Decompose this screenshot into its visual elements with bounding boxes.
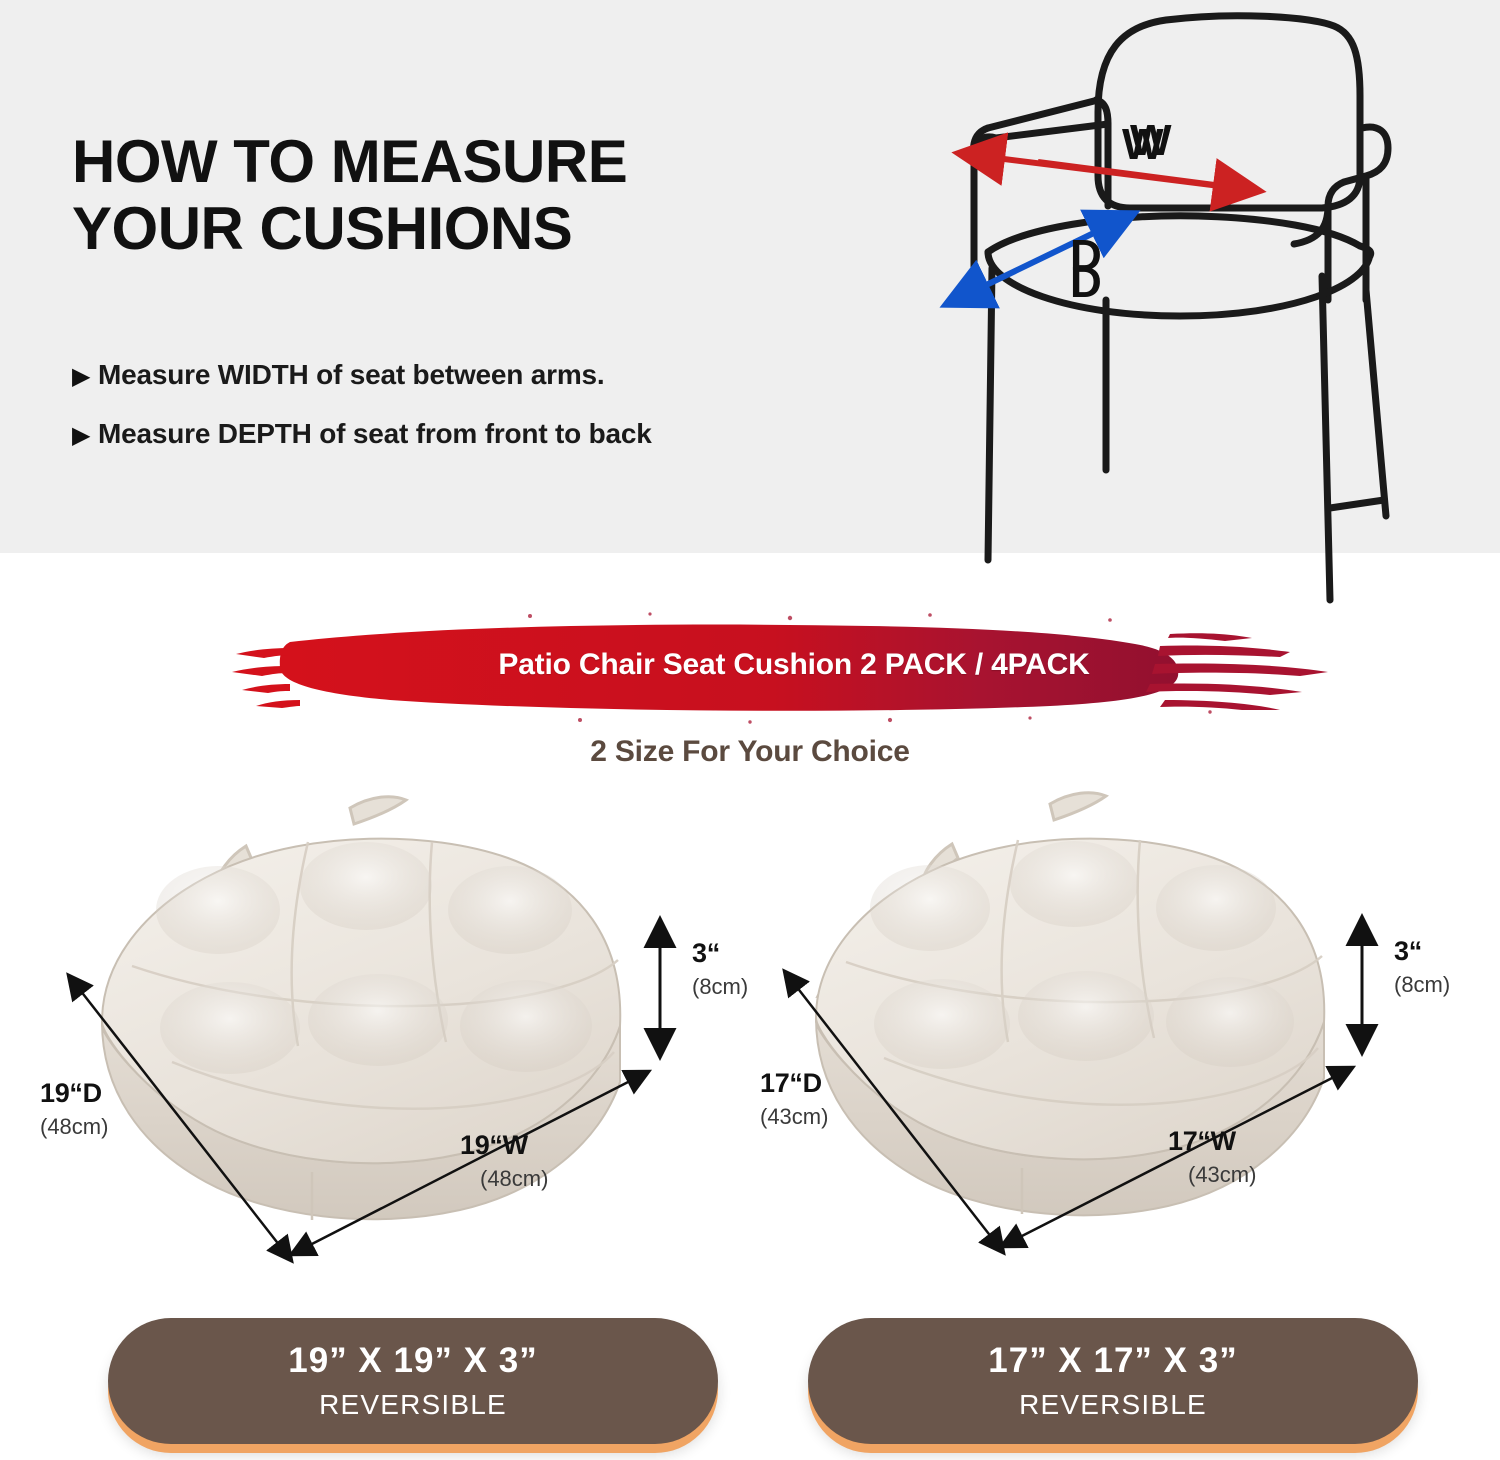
width-cm-17: (43cm) bbox=[1188, 1162, 1256, 1188]
size-option-19[interactable]: 19” X 19” X 3” REVERSIBLE bbox=[108, 1318, 718, 1444]
height-dimension-label-17: 3“ (8cm) bbox=[1394, 936, 1450, 998]
depth-cm-19: (48cm) bbox=[40, 1114, 108, 1140]
cushion-figure-19: 19“D (48cm) 19“W (48cm) 3“ (8cm) bbox=[40, 790, 770, 1270]
size-option-17[interactable]: 17” X 17” X 3” REVERSIBLE bbox=[808, 1318, 1418, 1444]
cushion-figure-17: 17“D (43cm) 17“W (43cm) 3“ (8cm) bbox=[760, 790, 1490, 1270]
size-option-17-dimensions: 17” X 17” X 3” bbox=[988, 1343, 1237, 1378]
depth-inches-19: 19“D bbox=[40, 1078, 108, 1109]
infographic-page: HOW TO MEASURE YOUR CUSHIONS ▶ Measure W… bbox=[0, 0, 1500, 1460]
depth-cm-17: (43cm) bbox=[760, 1104, 828, 1130]
instruction-list: ▶ Measure WIDTH of seat between arms. ▶ … bbox=[72, 360, 912, 478]
width-dimension-label-19: 19“W (48cm) bbox=[460, 1130, 548, 1192]
page-title-line-1: HOW TO MEASURE bbox=[72, 128, 627, 195]
depth-label-overlay: D bbox=[1070, 258, 1102, 308]
size-option-19-reversible: REVERSIBLE bbox=[319, 1391, 507, 1419]
instruction-depth-text: Measure DEPTH of seat from front to back bbox=[98, 419, 652, 450]
list-item: ▶ Measure DEPTH of seat from front to ba… bbox=[72, 419, 912, 450]
size-option-17-reversible: REVERSIBLE bbox=[1019, 1391, 1207, 1419]
height-cm-19: (8cm) bbox=[692, 974, 748, 1000]
section-subtitle: 2 Size For Your Choice bbox=[0, 735, 1500, 769]
chair-leg-front-left bbox=[988, 268, 992, 560]
height-inches-17: 3“ bbox=[1394, 936, 1450, 967]
chair-outline bbox=[974, 16, 1388, 600]
size-option-19-dimensions: 19” X 19” X 3” bbox=[288, 1343, 537, 1378]
chair-illustration-svg: W D bbox=[930, 0, 1430, 620]
chair-leg-rear-right bbox=[1366, 290, 1386, 516]
depth-inches-17: 17“D bbox=[760, 1068, 828, 1099]
width-inches-19: 19“W bbox=[460, 1130, 548, 1161]
promo-banner: Patio Chair Seat Cushion 2 PACK / 4PACK bbox=[230, 600, 1340, 730]
chair-leg-front-right bbox=[1322, 276, 1330, 600]
width-cm-19: (48cm) bbox=[480, 1166, 548, 1192]
page-title-line-2: YOUR CUSHIONS bbox=[72, 195, 832, 262]
chair-diagram: W D bbox=[930, 0, 1430, 620]
page-title: HOW TO MEASURE YOUR CUSHIONS bbox=[72, 128, 832, 262]
chair-seat-front-edge bbox=[988, 252, 1370, 316]
height-inches-19: 3“ bbox=[692, 938, 748, 969]
height-dimension-label-19: 3“ (8cm) bbox=[692, 938, 748, 1000]
width-dimension-label-17: 17“W (43cm) bbox=[1168, 1126, 1256, 1188]
triangle-bullet-icon: ▶ bbox=[72, 424, 98, 448]
triangle-bullet-icon: ▶ bbox=[72, 365, 98, 389]
width-label-overlay: W bbox=[1122, 120, 1164, 170]
cushion-illustration-19 bbox=[40, 790, 770, 1270]
chair-leg-stretcher bbox=[1330, 500, 1384, 508]
chair-seat-back-edge bbox=[988, 216, 1360, 252]
height-cm-17: (8cm) bbox=[1394, 972, 1450, 998]
depth-dimension-label-19: 19“D (48cm) bbox=[40, 1078, 108, 1140]
list-item: ▶ Measure WIDTH of seat between arms. bbox=[72, 360, 912, 391]
cushion-illustration-17 bbox=[760, 790, 1490, 1270]
chair-backrest bbox=[1098, 16, 1360, 208]
depth-dimension-label-17: 17“D (43cm) bbox=[760, 1068, 828, 1130]
width-inches-17: 17“W bbox=[1168, 1126, 1256, 1157]
instruction-width-text: Measure WIDTH of seat between arms. bbox=[98, 360, 604, 391]
promo-banner-text: Patio Chair Seat Cushion 2 PACK / 4PACK bbox=[230, 600, 1340, 730]
